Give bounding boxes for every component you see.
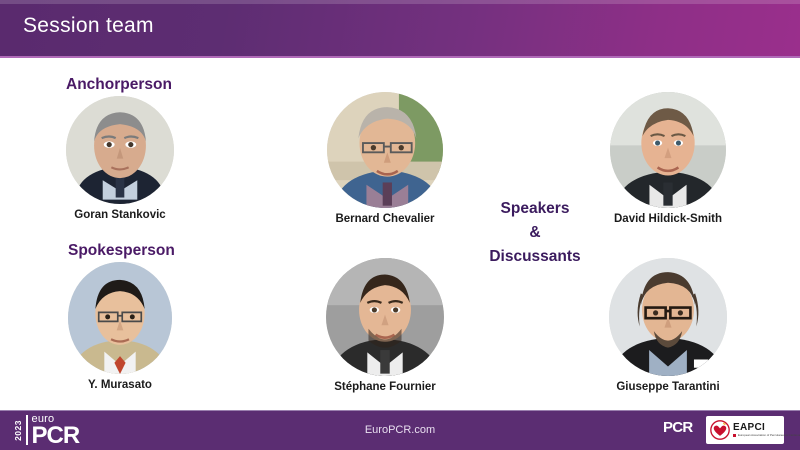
eapci-name: EAPCI [733, 423, 800, 433]
portrait-stephane-fournier [326, 258, 444, 376]
person-name: Giuseppe Tarantini [578, 381, 758, 393]
person-card-y-murasato: Y. Murasato [30, 262, 210, 391]
pcr-mark-logo: PCR [663, 419, 693, 436]
portrait-goran-stankovic [66, 96, 174, 204]
role-label-anchorperson: Anchorperson [66, 76, 172, 94]
person-card-goran-stankovic: Goran Stankovic [30, 96, 210, 221]
person-name: David Hildick-Smith [578, 213, 758, 225]
eapci-square-icon [733, 434, 736, 437]
page-title: Session team [23, 14, 154, 38]
slide-session-team: Session team Anchorperson Spokesperson S… [0, 0, 800, 450]
person-name: Y. Murasato [30, 379, 210, 391]
person-name: Stéphane Fournier [295, 381, 475, 393]
logo-wordmark: euro PCR [32, 414, 80, 447]
portrait-giuseppe-tarantini [609, 258, 727, 376]
heart-icon [710, 420, 730, 440]
logo-year: 2023 [14, 420, 23, 441]
logo-pcr-text: PCR [32, 426, 80, 447]
portrait-y-murasato [68, 262, 172, 374]
portrait-david-hildick-smith [610, 92, 726, 208]
person-name: Goran Stankovic [30, 209, 210, 221]
person-name: Bernard Chevalier [295, 213, 475, 225]
person-card-stephane-fournier: Stéphane Fournier [295, 258, 475, 393]
role-label-spokesperson: Spokesperson [68, 242, 175, 260]
logo-divider [26, 415, 28, 445]
eapci-text-block: EAPCI European Association of Percutaneo… [733, 423, 800, 438]
slide-header: Session team [0, 0, 800, 58]
portrait-bernard-chevalier [327, 92, 443, 208]
person-card-bernard-chevalier: Bernard Chevalier [295, 92, 475, 225]
person-card-giuseppe-tarantini: Giuseppe Tarantini [578, 258, 758, 393]
eapci-subtitle: European Association of Percutaneous Car… [733, 434, 800, 437]
eapci-subtitle-text: European Association of Percutaneous Car… [738, 434, 800, 437]
person-card-david-hildick-smith: David Hildick-Smith [578, 92, 758, 225]
eapci-logo: EAPCI European Association of Percutaneo… [706, 416, 784, 444]
europcr-logo: 2023 euro PCR [14, 412, 100, 448]
